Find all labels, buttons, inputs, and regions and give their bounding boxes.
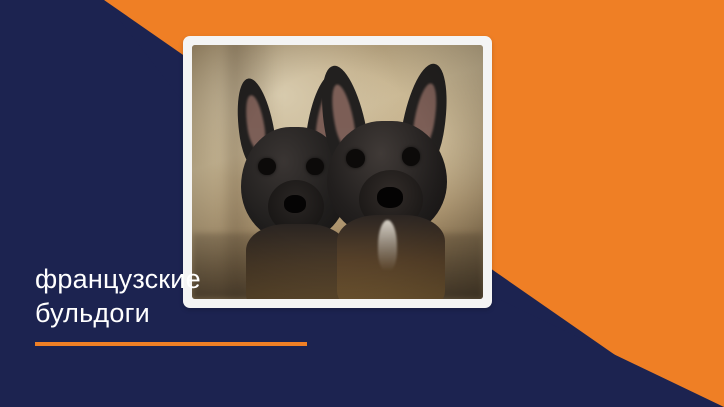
title-underline-rule: [35, 342, 307, 346]
slide-canvas: французские бульдоги: [0, 0, 724, 407]
slide-title-line-1: французские: [35, 262, 365, 296]
bulldog-left-nose: [284, 195, 307, 213]
bulldog-right-eye-right: [402, 147, 421, 166]
bulldog-right-nose: [377, 187, 403, 208]
slide-title-line-2: бульдоги: [35, 296, 365, 330]
title-block: французские бульдоги: [35, 262, 365, 346]
bulldog-right-chest-blaze: [378, 220, 397, 271]
bulldog-left-eye-left: [258, 158, 275, 176]
french-bulldogs-photo: [192, 45, 483, 299]
